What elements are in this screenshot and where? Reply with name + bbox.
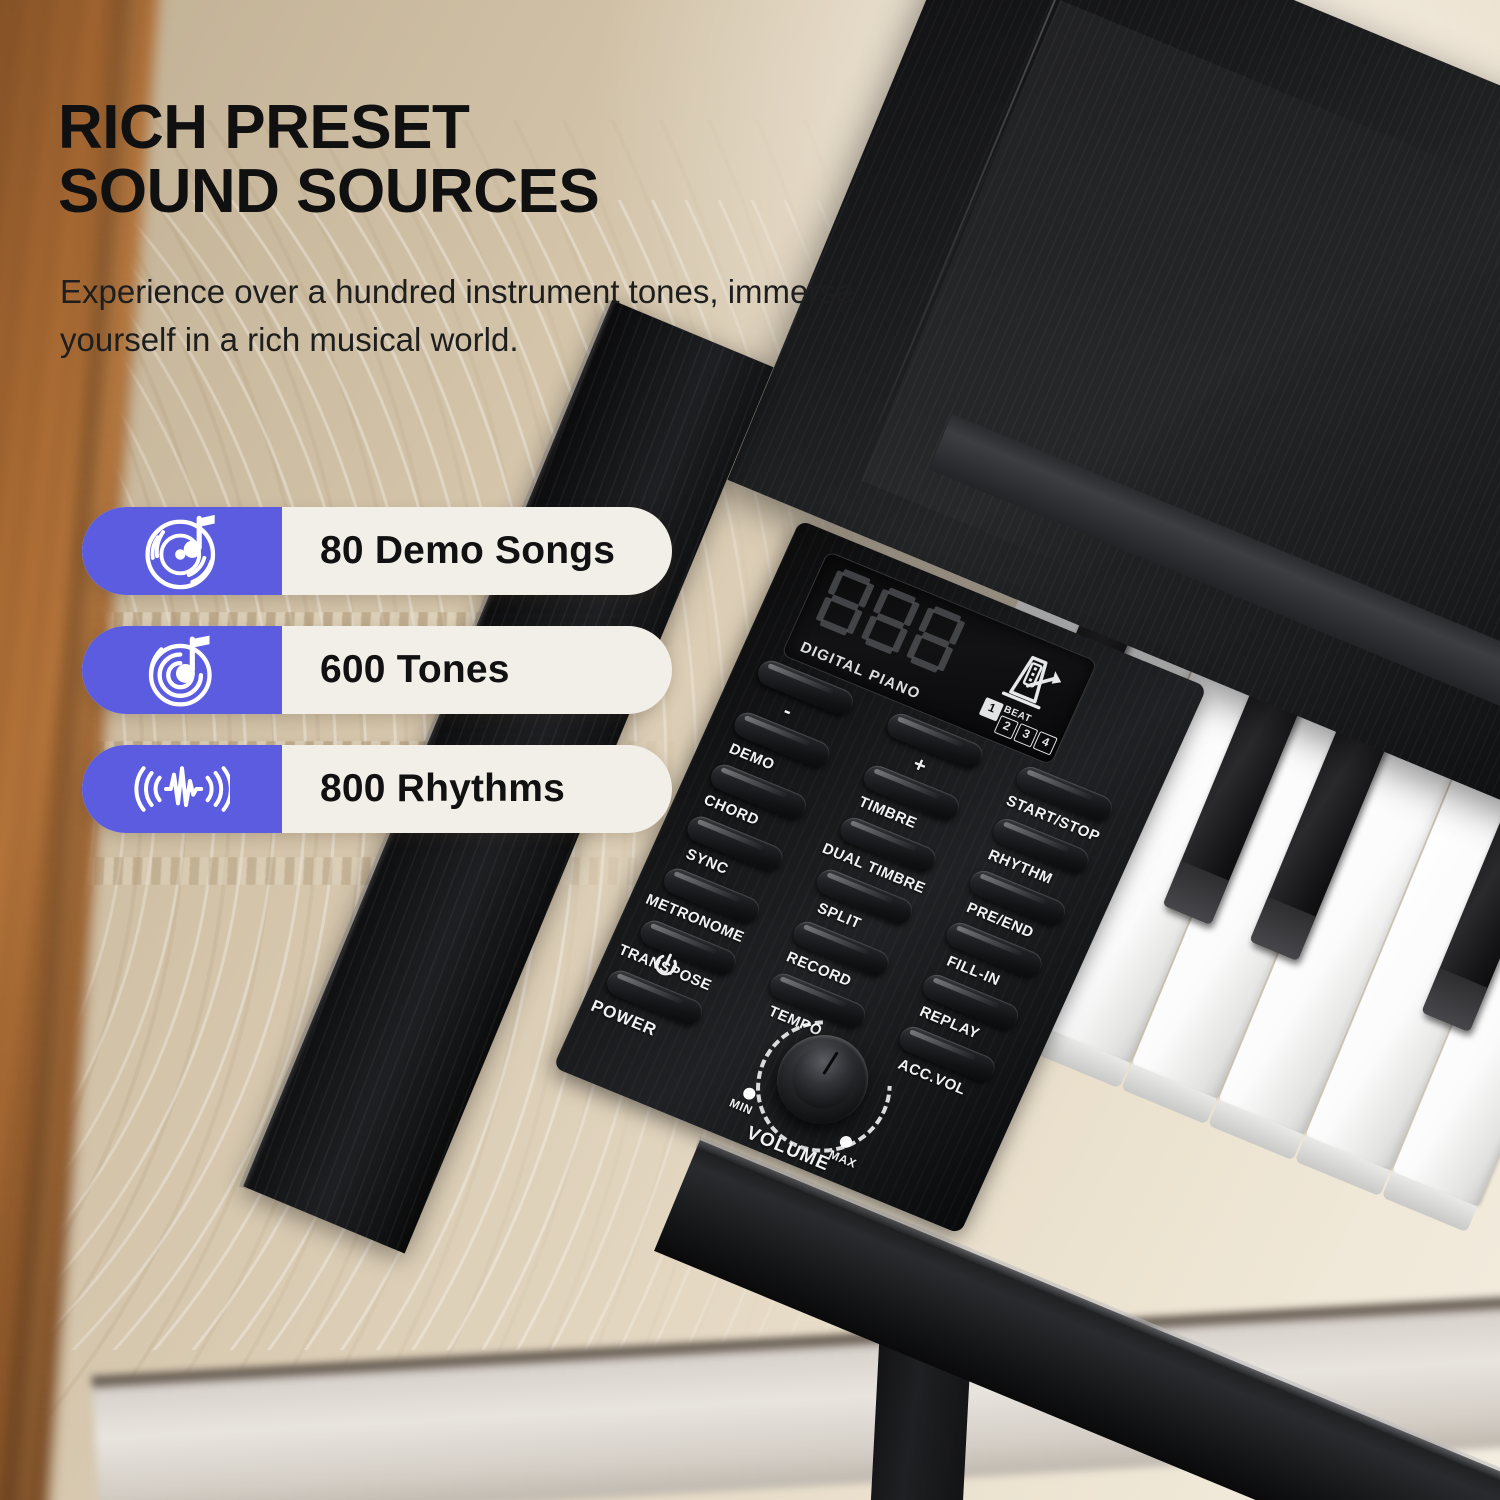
white-key-front	[1208, 1099, 1304, 1160]
white-key-front	[1295, 1135, 1391, 1196]
feature-label: 80 Demo Songs	[282, 529, 672, 573]
white-key-front	[1121, 1063, 1217, 1124]
feature-label: 600 Tones	[282, 648, 672, 692]
feature-icon-container	[82, 745, 282, 833]
sound-waveform-icon	[134, 753, 230, 825]
feature-label: 800 Rhythms	[282, 767, 672, 811]
feature-icon-container	[82, 507, 282, 595]
feature-pill-rhythms: 800 Rhythms	[82, 745, 672, 833]
vinyl-record-note-icon	[139, 508, 225, 594]
feature-pill-demo-songs: 80 Demo Songs	[82, 507, 672, 595]
button-minus-label: -	[779, 699, 796, 724]
spiral-record-note-icon	[139, 627, 225, 713]
feature-icon-container	[82, 626, 282, 714]
subcopy-text: Experience over a hundred instrument ton…	[60, 268, 890, 364]
product-marketing-image: DIGITAL PIANO 1	[0, 0, 1500, 1500]
page-title: RICH PRESET SOUND SOURCES	[58, 96, 838, 224]
headline-line-1: RICH PRESET	[58, 93, 469, 162]
volume-knob-top	[782, 1038, 865, 1118]
button-plus-label: +	[909, 752, 931, 779]
feature-pill-tones: 600 Tones	[82, 626, 672, 714]
white-key-front	[1382, 1171, 1478, 1232]
headline-line-2: SOUND SOURCES	[58, 160, 838, 224]
